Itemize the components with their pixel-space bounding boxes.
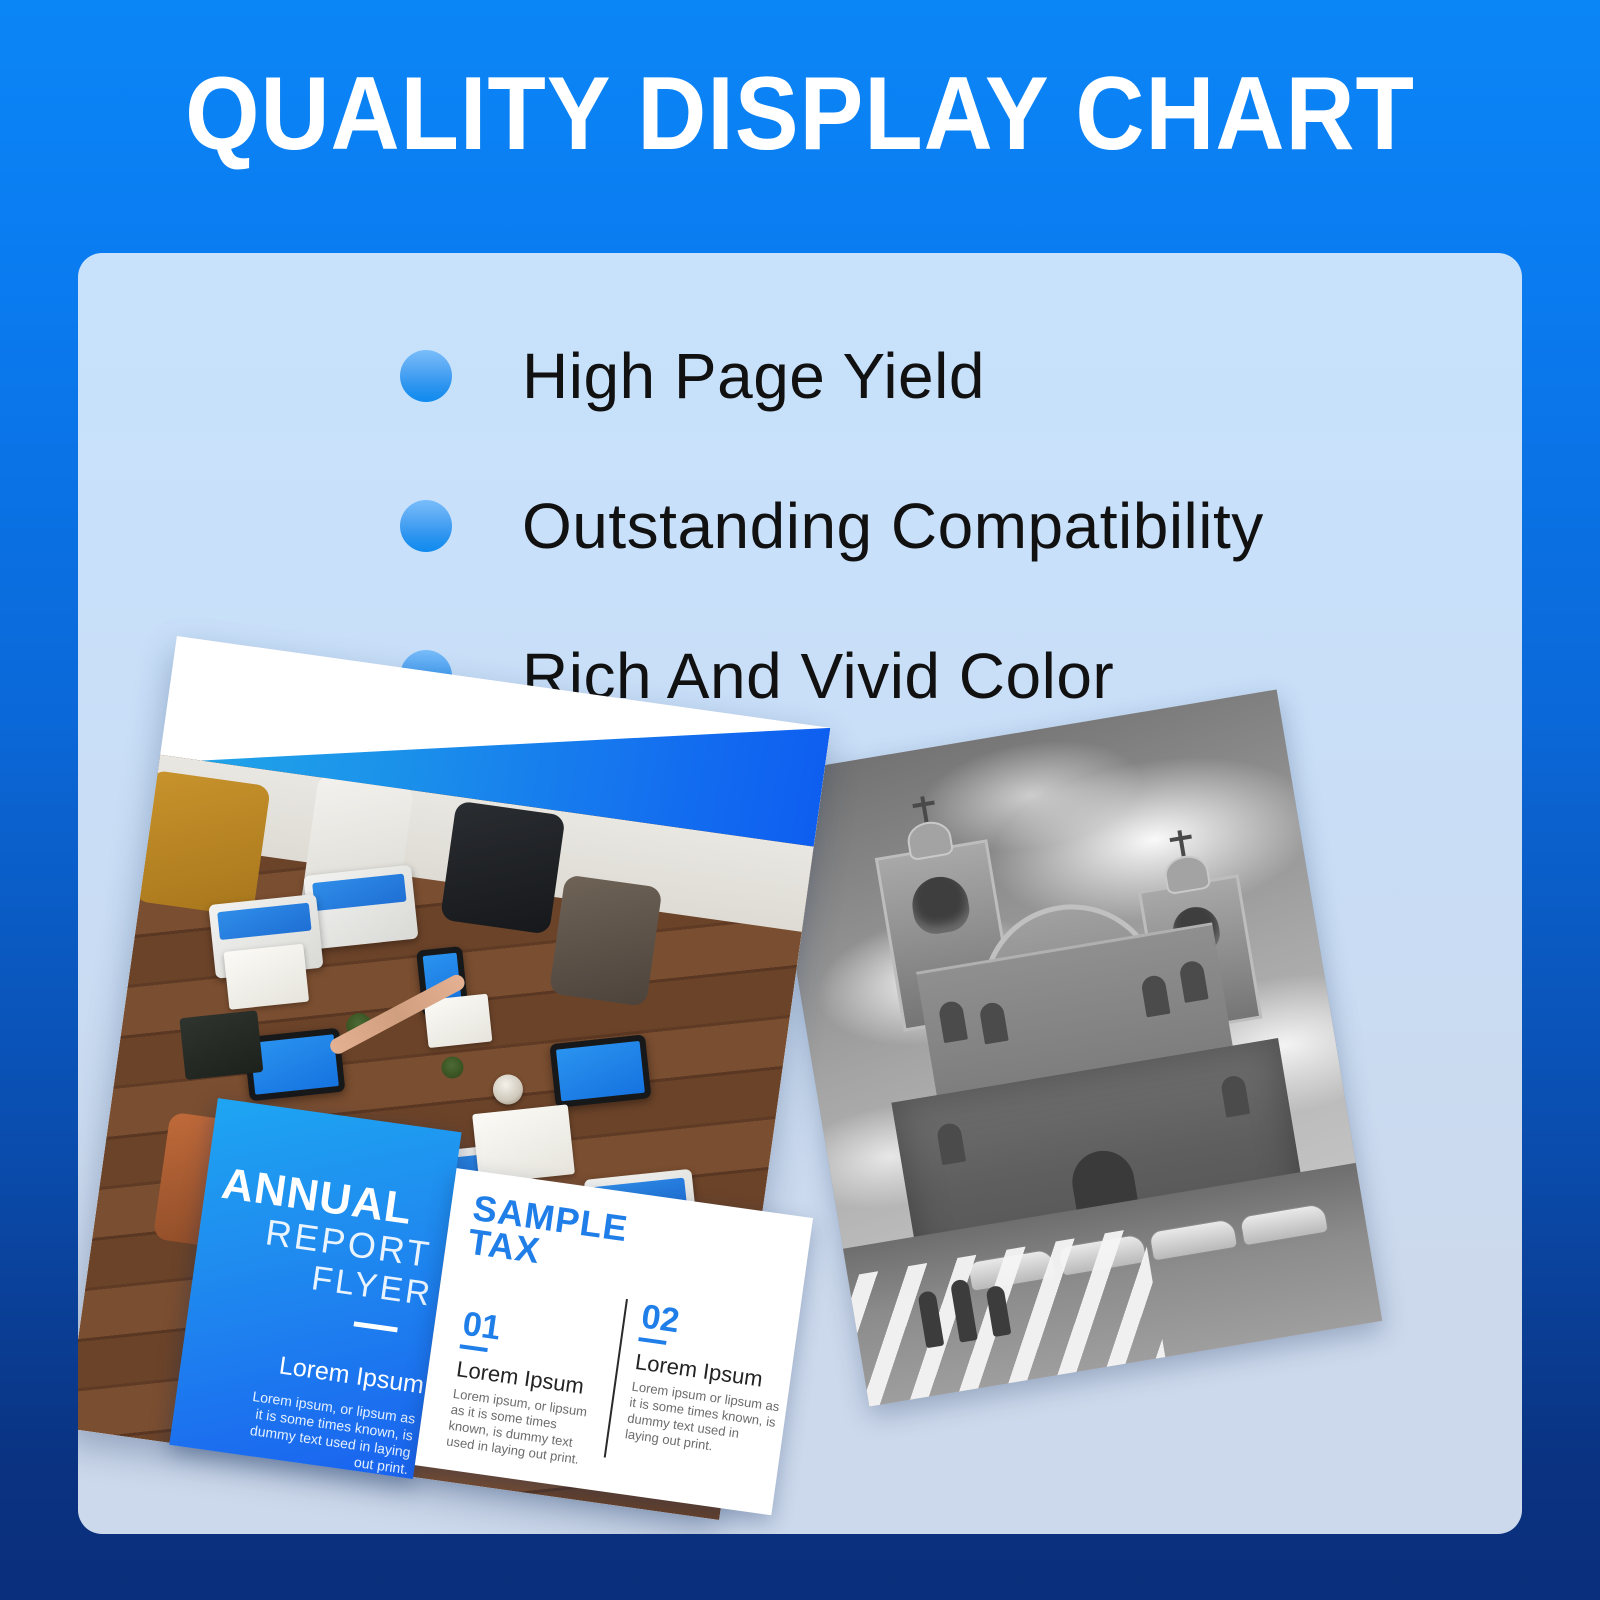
- dome-shape: [1162, 852, 1211, 895]
- cross-icon: [1177, 830, 1185, 856]
- photo-tablet: [549, 1034, 651, 1108]
- bw-pedestrian: [950, 1279, 978, 1343]
- bullet-dot-icon: [400, 500, 452, 552]
- photo-person: [549, 874, 663, 1006]
- feature-label: Outstanding Compatibility: [522, 494, 1264, 558]
- bell-opening: [908, 873, 972, 937]
- flyer-subtitle: Lorem Ipsum: [278, 1353, 426, 1398]
- feature-label: High Page Yield: [522, 344, 985, 408]
- bw-pedestrian: [985, 1285, 1011, 1337]
- flyer-inner-panel: SAMPLE TAX 01 Lorem Ipsum Lorem ipsum, o…: [415, 1168, 813, 1515]
- feature-item-outstanding-compatibility: Outstanding Compatibility: [400, 451, 1500, 601]
- photo-notebook: [224, 944, 310, 1010]
- content-card: High Page Yield Outstanding Compatibilit…: [78, 253, 1522, 1534]
- sample-photo-bw: [764, 689, 1382, 1406]
- flyer-column-number: 01: [461, 1307, 614, 1362]
- flyer-column-number: 02: [639, 1299, 792, 1354]
- flyer-column-02: 02 Lorem Ipsum Lorem ipsum or lipsum as …: [624, 1299, 793, 1462]
- photo-plant: [440, 1055, 465, 1080]
- facade-window: [1178, 959, 1208, 1002]
- flyer-sample-heading: SAMPLE TAX: [466, 1191, 630, 1280]
- photo-person: [134, 770, 271, 917]
- flyer-body-text: Lorem ipsum, or lipsum as it is some tim…: [239, 1387, 417, 1478]
- facade-window: [1220, 1074, 1250, 1117]
- facade-window: [1140, 974, 1170, 1017]
- flyer-rule-divider: [354, 1321, 398, 1332]
- flyer-sample-line2: TAX: [466, 1221, 543, 1272]
- photo-laptop: [303, 865, 418, 950]
- facade-window: [936, 1122, 966, 1165]
- flyer-column-01: 01 Lorem Ipsum Lorem ipsum, or lipsum as…: [445, 1307, 614, 1470]
- sample-print-stage: ANNUAL REPORT FLYER Lorem Ipsum Lorem ip…: [78, 673, 1522, 1534]
- flyer-cover-panel: ANNUAL REPORT FLYER Lorem Ipsum Lorem ip…: [169, 1098, 461, 1479]
- page-title: QUALITY DISPLAY CHART: [64, 62, 1536, 166]
- sample-flyer-group: ANNUAL REPORT FLYER Lorem Ipsum Lorem ip…: [78, 636, 830, 1520]
- facade-window: [978, 1001, 1008, 1044]
- facade-window: [938, 1000, 968, 1043]
- photo-coffee-cup: [491, 1073, 525, 1107]
- photo-dark-folder: [179, 1010, 263, 1080]
- photo-person: [440, 801, 566, 935]
- poster-root: QUALITY DISPLAY CHART High Page Yield Ou…: [0, 0, 1600, 1600]
- bullet-dot-icon: [400, 350, 452, 402]
- feature-item-high-page-yield: High Page Yield: [400, 301, 1500, 451]
- bw-pedestrian: [917, 1290, 944, 1348]
